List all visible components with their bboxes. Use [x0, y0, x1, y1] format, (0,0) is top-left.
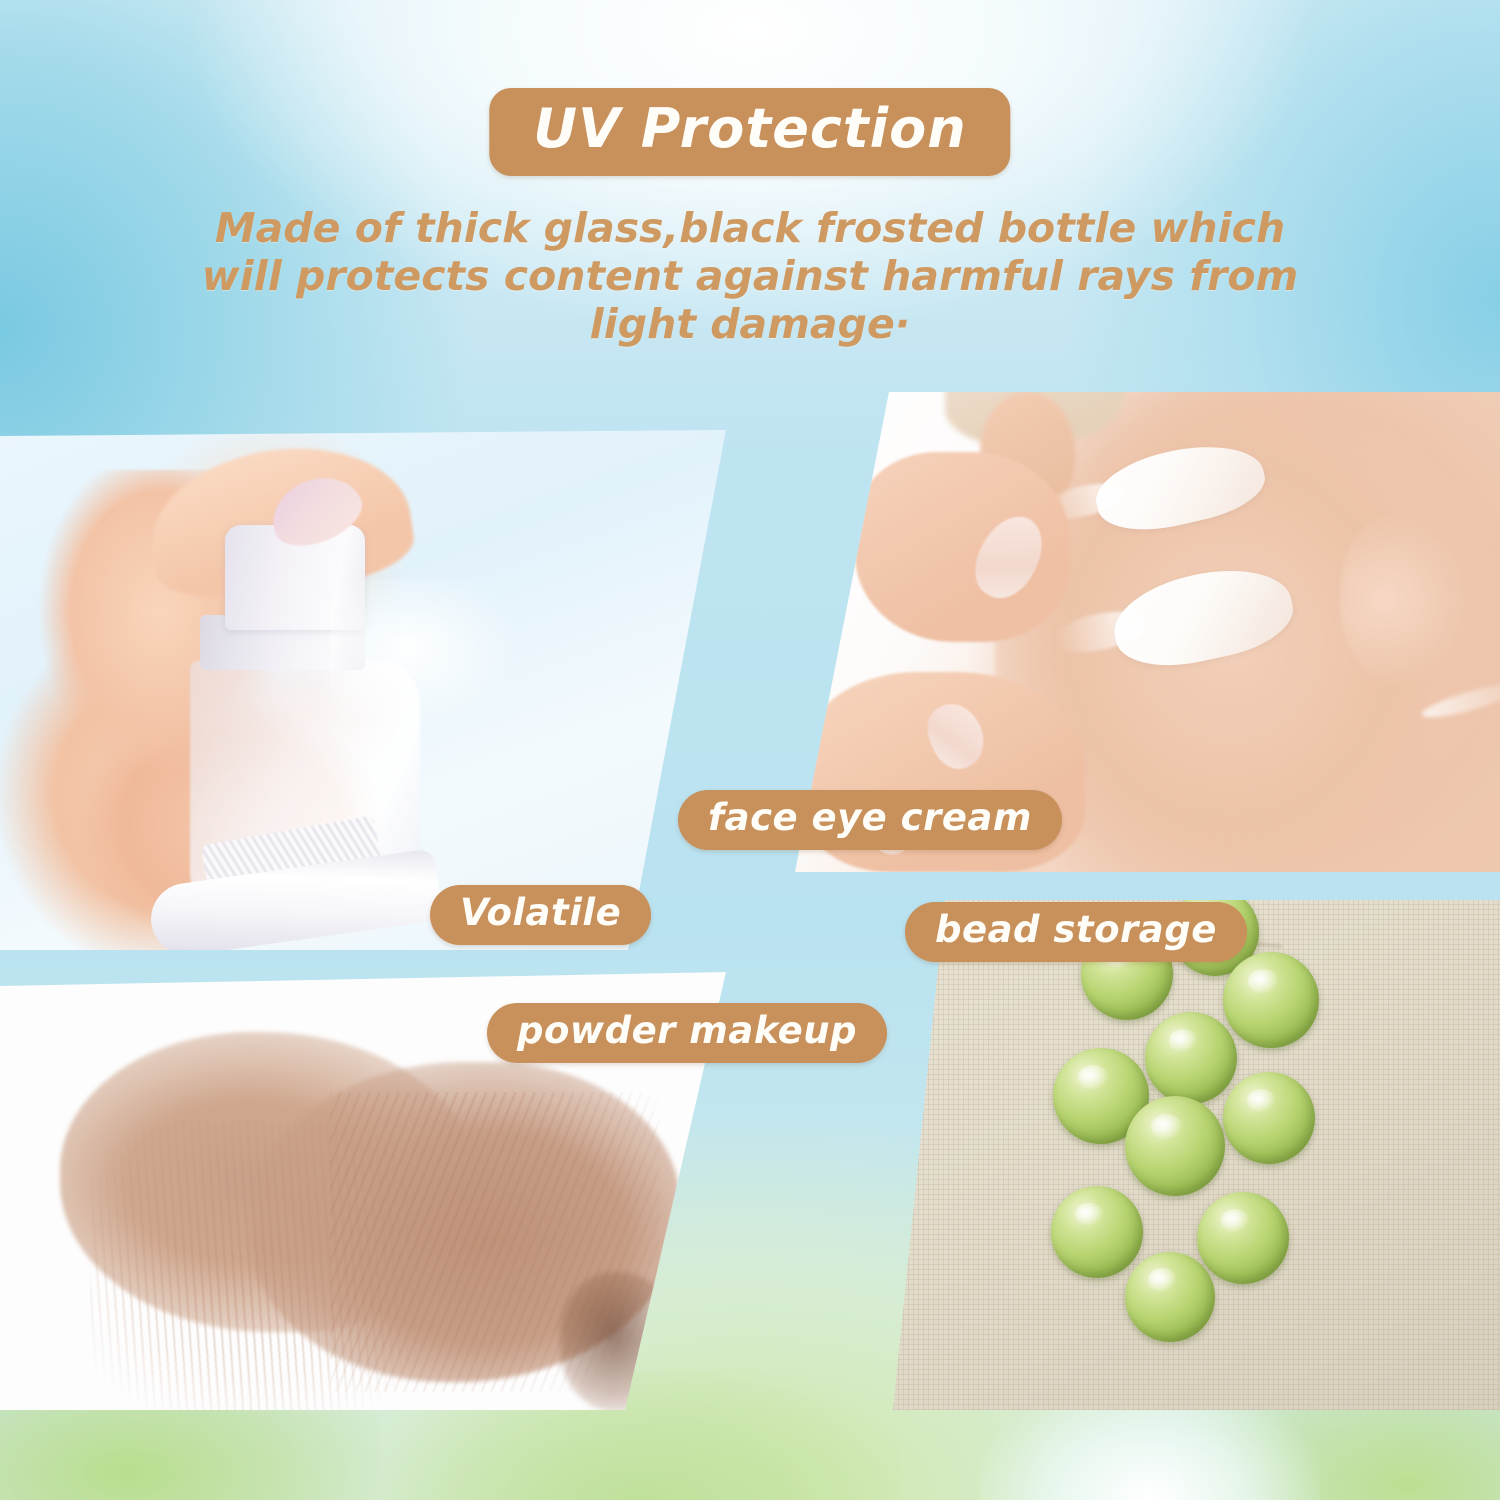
bead — [1197, 1192, 1289, 1284]
header-section: UV Protection Made of thick glass,black … — [0, 0, 1500, 372]
bead-storage-photo — [893, 900, 1500, 1410]
page-title: UV Protection — [533, 102, 966, 156]
label-powder-makeup: powder makeup — [487, 1003, 887, 1063]
bead — [1223, 1072, 1315, 1164]
photo-panel-bead-storage — [893, 900, 1500, 1410]
bead — [1223, 952, 1319, 1048]
label-face-eye-cream-text: face eye cream — [708, 799, 1032, 836]
bead — [1051, 1186, 1143, 1278]
label-bead-storage: bead storage — [905, 902, 1247, 962]
label-face-eye-cream: face eye cream — [678, 790, 1062, 850]
bead — [1145, 1012, 1237, 1104]
highlight-glow — [330, 580, 520, 730]
bead — [1125, 1096, 1225, 1196]
bead — [1125, 1252, 1215, 1342]
label-bead-storage-text: bead storage — [935, 911, 1217, 948]
label-powder-makeup-text: powder makeup — [517, 1012, 857, 1049]
header-subtitle: Made of thick glass,black frosted bottle… — [190, 205, 1310, 349]
label-volatile-text: Volatile — [460, 894, 621, 931]
title-badge: UV Protection — [489, 88, 1010, 176]
product-feature-graphic: UV Protection Made of thick glass,black … — [0, 0, 1500, 1500]
label-volatile: Volatile — [430, 885, 651, 945]
